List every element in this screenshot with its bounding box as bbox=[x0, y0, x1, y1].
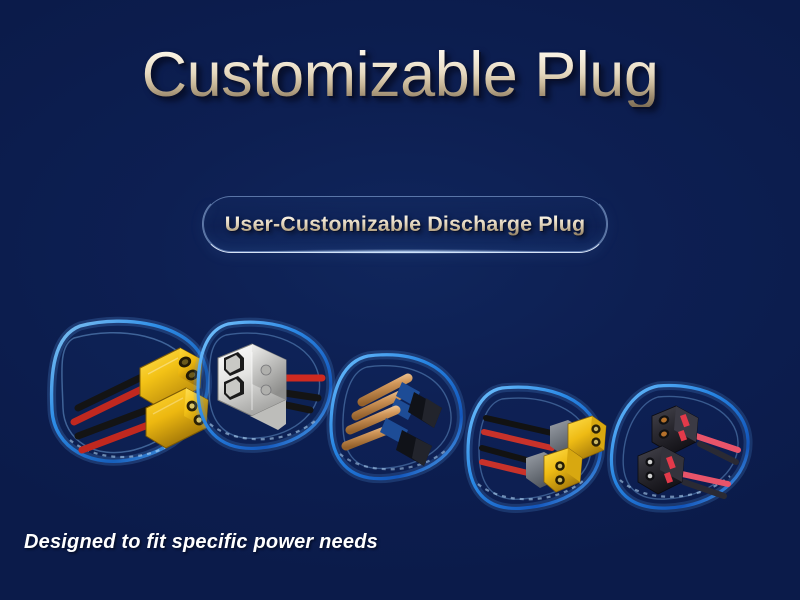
glow-blob-outline-3 bbox=[331, 355, 461, 479]
product-showcase-row bbox=[0, 0, 800, 600]
caption-text: Designed to fit specific power needs bbox=[24, 531, 378, 554]
slide-canvas: Customizable Plug User-Customizable Disc… bbox=[0, 0, 800, 600]
product-card-xt60-black-pair bbox=[596, 380, 786, 520]
product-card-anderson-white-connector bbox=[190, 316, 340, 466]
